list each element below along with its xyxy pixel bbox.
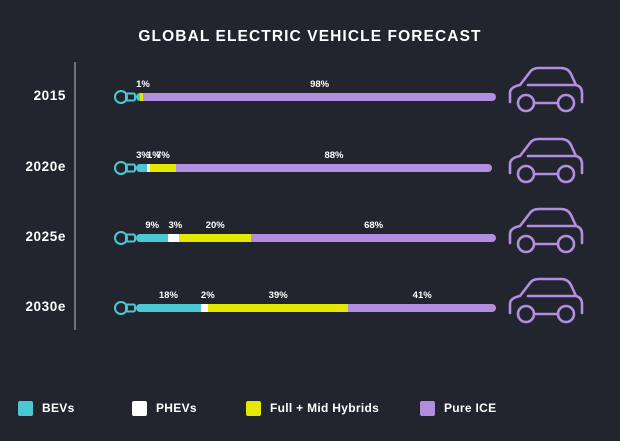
bar-segment [348,304,496,312]
legend-swatch-icon [420,401,435,416]
legend-item[interactable]: PHEVs [132,397,197,419]
chart-legend: BEVsPHEVsFull + Mid HybridsPure ICE [0,397,620,419]
legend-label: Pure ICE [444,401,496,415]
bar-segment [179,234,251,242]
segment-value-label: 88% [324,150,343,161]
legend-label: Full + Mid Hybrids [270,401,379,415]
bar-segment [150,164,175,172]
stacked-bar [136,93,496,101]
segment-value-label: 68% [364,220,383,231]
chart-canvas: GLOBAL ELECTRIC VEHICLE FORECAST 20151%9… [0,0,620,441]
bar-segment [176,164,493,172]
row-category-label: 2020e [0,159,66,174]
legend-swatch-icon [18,401,33,416]
bar-segment [136,164,147,172]
bar-segment [208,304,348,312]
stacked-bar [136,304,496,312]
segment-value-label: 2% [201,290,215,301]
legend-item[interactable]: BEVs [18,397,75,419]
segment-value-label: 39% [269,290,288,301]
bar-segment [136,234,168,242]
car-icon [506,273,584,329]
bar-segment [201,304,208,312]
segment-value-label: 18% [159,290,178,301]
legend-swatch-icon [246,401,261,416]
bar-segment [251,234,496,242]
bar-row: 2020e3%1%7%88% [0,133,620,203]
legend-item[interactable]: Full + Mid Hybrids [246,397,379,419]
plug-icon [114,228,136,248]
plug-icon [114,87,136,107]
stacked-bar [136,234,496,242]
bar-row: 2025e9%3%20%68% [0,203,620,273]
row-category-label: 2015 [0,88,66,103]
row-category-label: 2025e [0,229,66,244]
bar-row: 2030e18%2%39%41% [0,273,620,343]
segment-value-label: 20% [206,220,225,231]
car-icon [506,62,584,118]
legend-swatch-icon [132,401,147,416]
segment-value-label: 1% [136,79,150,90]
page-title: GLOBAL ELECTRIC VEHICLE FORECAST [0,28,620,46]
legend-label: BEVs [42,401,75,415]
bar-segment [143,93,496,101]
plug-icon [114,298,136,318]
car-icon [506,133,584,189]
legend-item[interactable]: Pure ICE [420,397,496,419]
legend-label: PHEVs [156,401,197,415]
bar-segment [168,234,179,242]
segment-value-label: 98% [310,79,329,90]
bar-row: 20151%98% [0,62,620,132]
row-category-label: 2030e [0,299,66,314]
stacked-bar [136,164,496,172]
segment-value-label: 7% [156,150,170,161]
segment-value-label: 41% [413,290,432,301]
segment-value-label: 3% [169,220,183,231]
segment-value-label: 9% [145,220,159,231]
car-icon [506,203,584,259]
plug-icon [114,158,136,178]
bar-segment [136,304,201,312]
